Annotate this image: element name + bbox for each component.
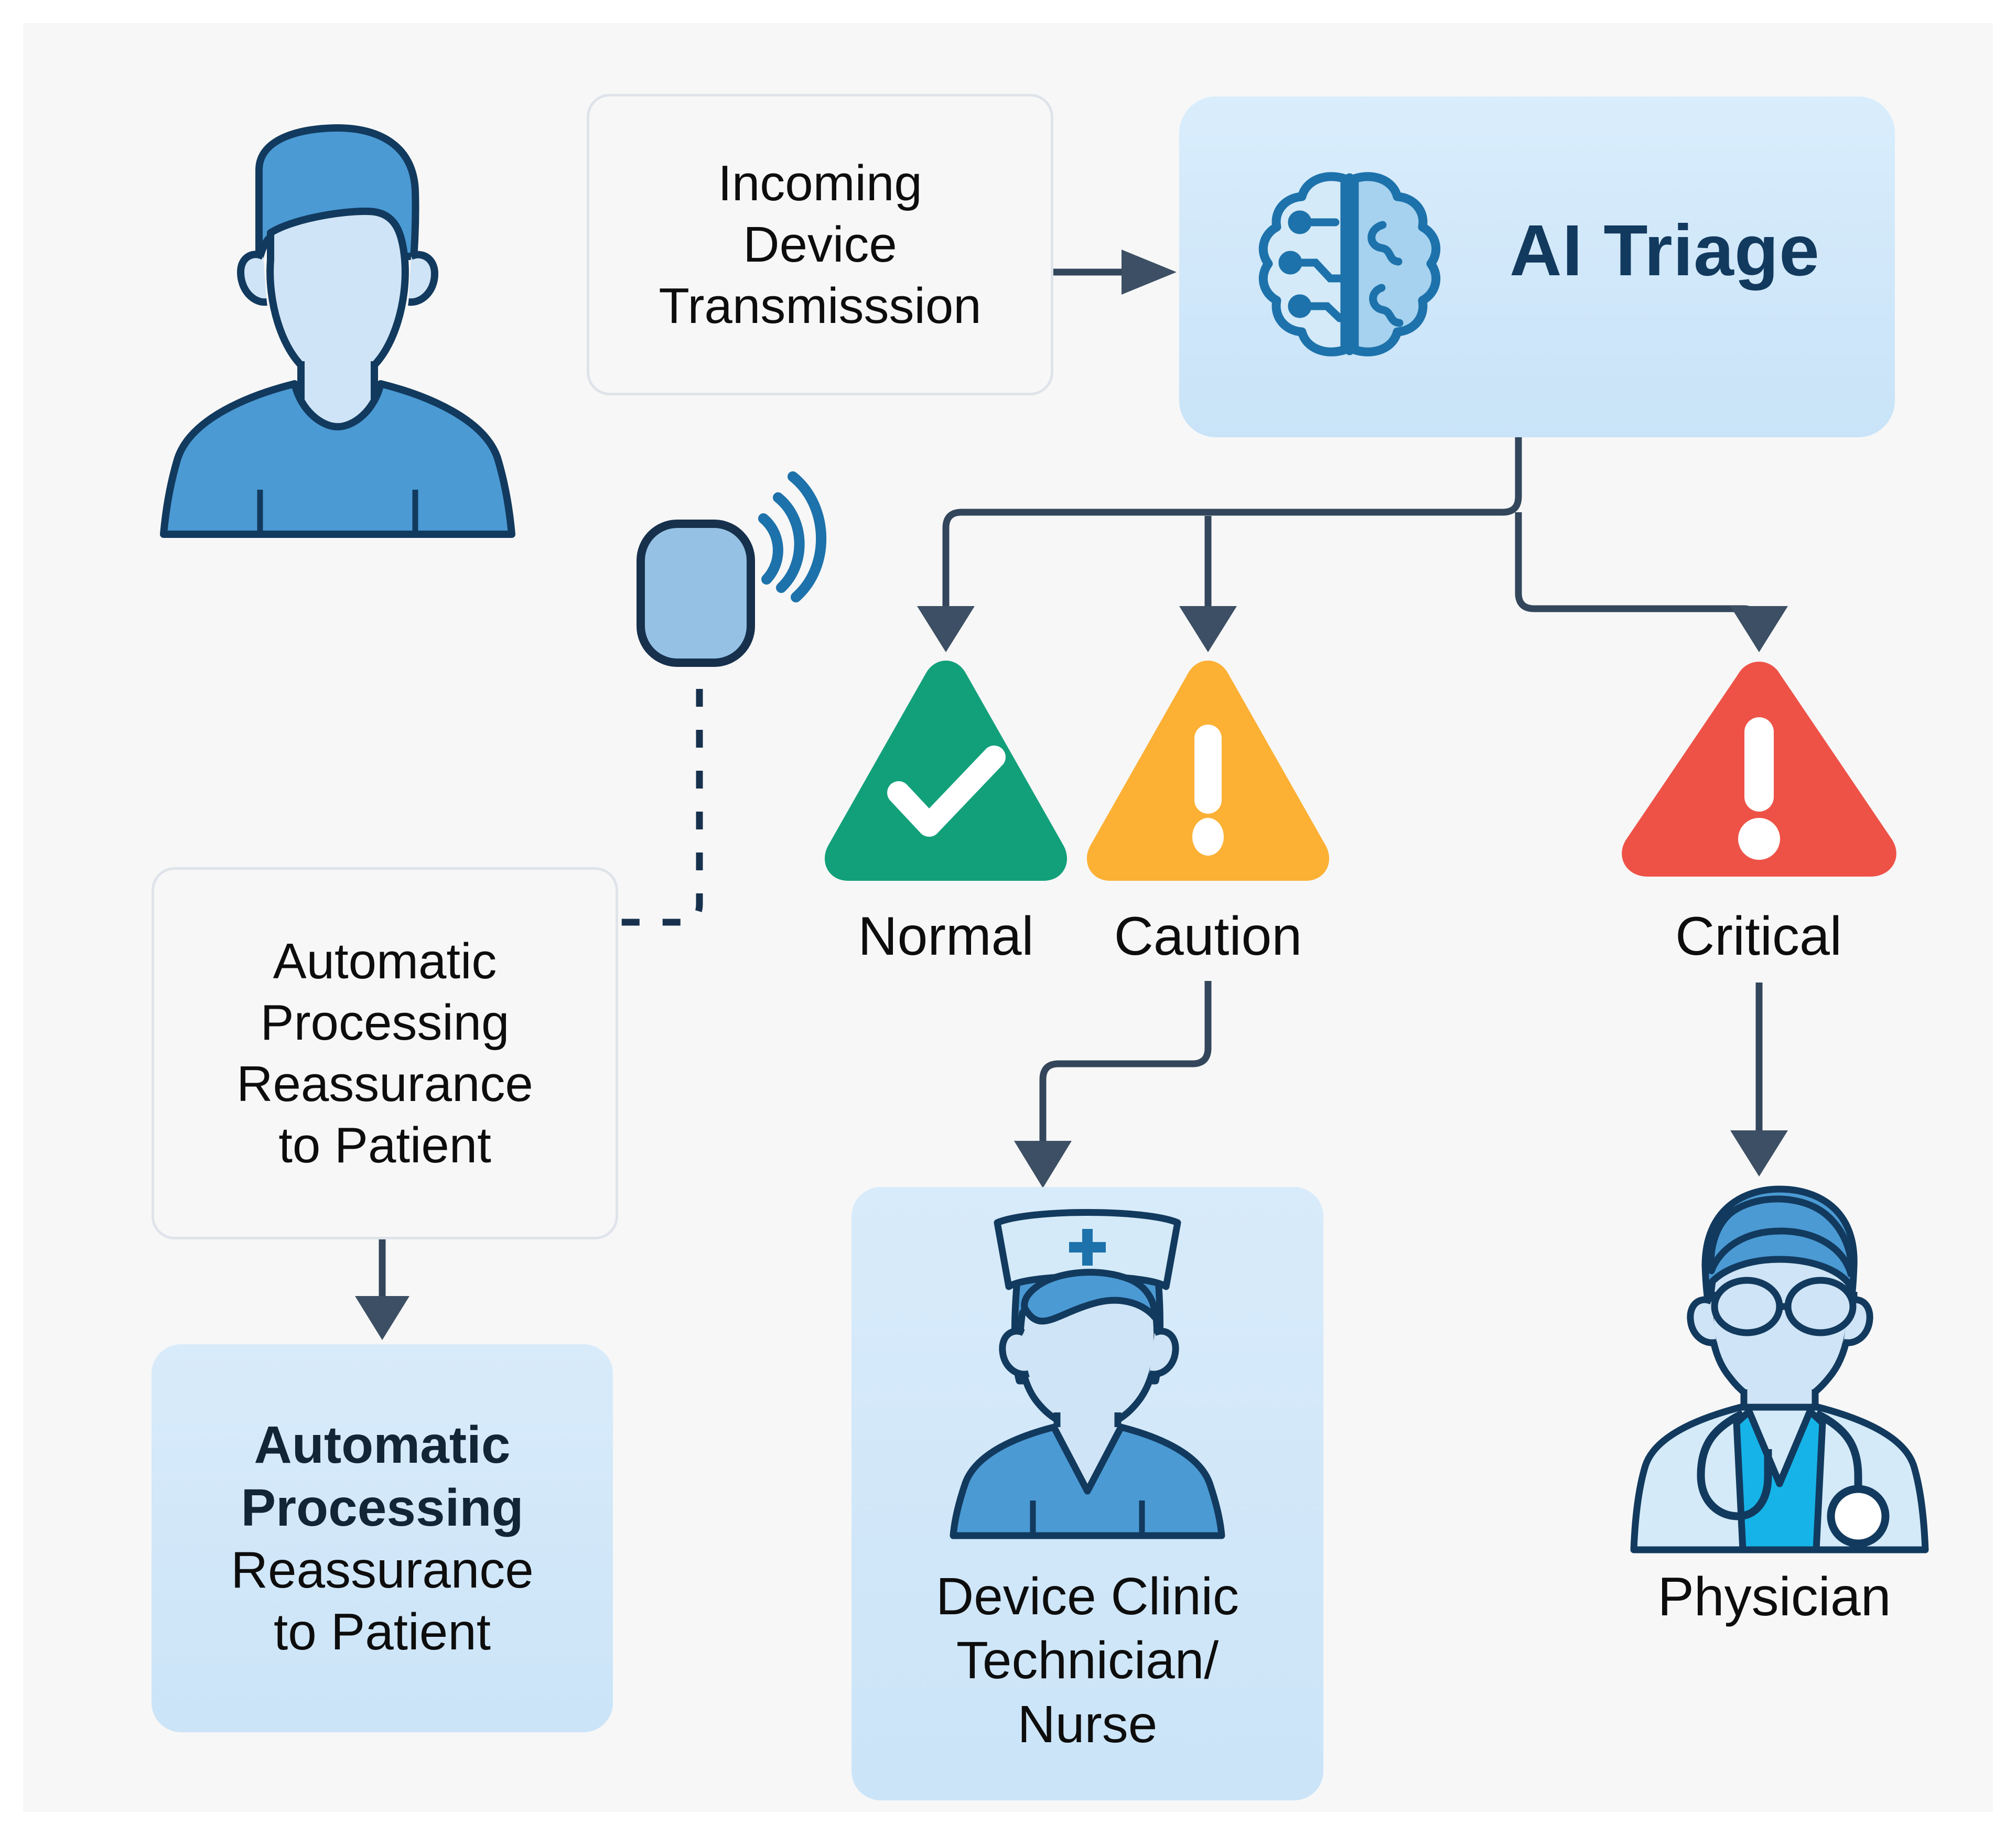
incoming-transmission-box: Incoming Device Transmisssion [587, 94, 1053, 395]
edge-device-to-autonote [621, 689, 699, 922]
nurse-label-line-3: Nurse [851, 1692, 1323, 1756]
auto-result-bold-1: Automatic [241, 1413, 523, 1476]
triage-label-normal: Normal [799, 904, 1093, 969]
automatic-processing-note: Automatic Processing Reassurance to Pati… [152, 867, 618, 1239]
auto-result-bold-2: Processing [241, 1476, 523, 1539]
edge-ai-branch-bus [946, 436, 1759, 624]
ai-triage-label: AI Triage [1510, 209, 1856, 293]
triage-outcome-normal[interactable]: Normal [799, 652, 1093, 988]
physician-node: Physician [1591, 1176, 1958, 1727]
device-clinic-nurse-box[interactable]: Device Clinic Technician/ Nurse [851, 1187, 1323, 1800]
check-triangle-icon [821, 652, 1070, 886]
incoming-line-1: Incoming [659, 153, 981, 214]
nurse-label-line-2: Technician/ [851, 1628, 1323, 1692]
auto-note-line-1: Automatic [236, 931, 533, 992]
triage-label-caution: Caution [1061, 904, 1355, 969]
patient-avatar [128, 123, 547, 537]
critical-triangle-icon [1614, 656, 1904, 884]
edge-caution-to-nurse [1014, 981, 1208, 1188]
auto-result-plain-2: to Patient [231, 1601, 533, 1663]
incoming-line-3: Transmisssion [659, 275, 981, 337]
edge-critical-to-physician [1730, 983, 1788, 1176]
physician-label: Physician [1591, 1564, 1958, 1630]
edge-ai-to-caution [1179, 516, 1237, 652]
edge-ai-to-critical [1730, 606, 1788, 652]
triage-outcome-caution[interactable]: Caution [1061, 652, 1355, 988]
triage-label-critical: Critical [1601, 904, 1916, 969]
diagram-canvas: Incoming Device Transmisssion [23, 23, 1993, 1812]
auto-note-line-3: Reassurance [236, 1053, 533, 1115]
triage-outcome-critical[interactable]: Critical [1601, 652, 1916, 988]
nurse-label-line-1: Device Clinic [851, 1564, 1323, 1628]
patient-icon [164, 128, 512, 534]
edge-autonote-to-result [355, 1229, 409, 1340]
nurse-icon [935, 1208, 1239, 1538]
physician-icon [1612, 1176, 1947, 1554]
brain-circuit-icon [1247, 167, 1452, 372]
warning-triangle-icon [1083, 652, 1332, 886]
nurse-label: Device Clinic Technician/ Nurse [851, 1564, 1323, 1756]
incoming-line-2: Device [659, 214, 981, 275]
auto-result-plain-1: Reassurance [231, 1539, 533, 1601]
edge-ai-to-normal [917, 606, 975, 652]
automatic-processing-result[interactable]: Automatic Processing Reassurance to Pati… [152, 1344, 613, 1732]
auto-note-line-2: Processing [236, 992, 533, 1053]
device-signal-icon [641, 477, 821, 663]
ai-triage-box[interactable]: AI Triage [1179, 96, 1895, 437]
auto-note-line-4: to Patient [236, 1115, 533, 1176]
